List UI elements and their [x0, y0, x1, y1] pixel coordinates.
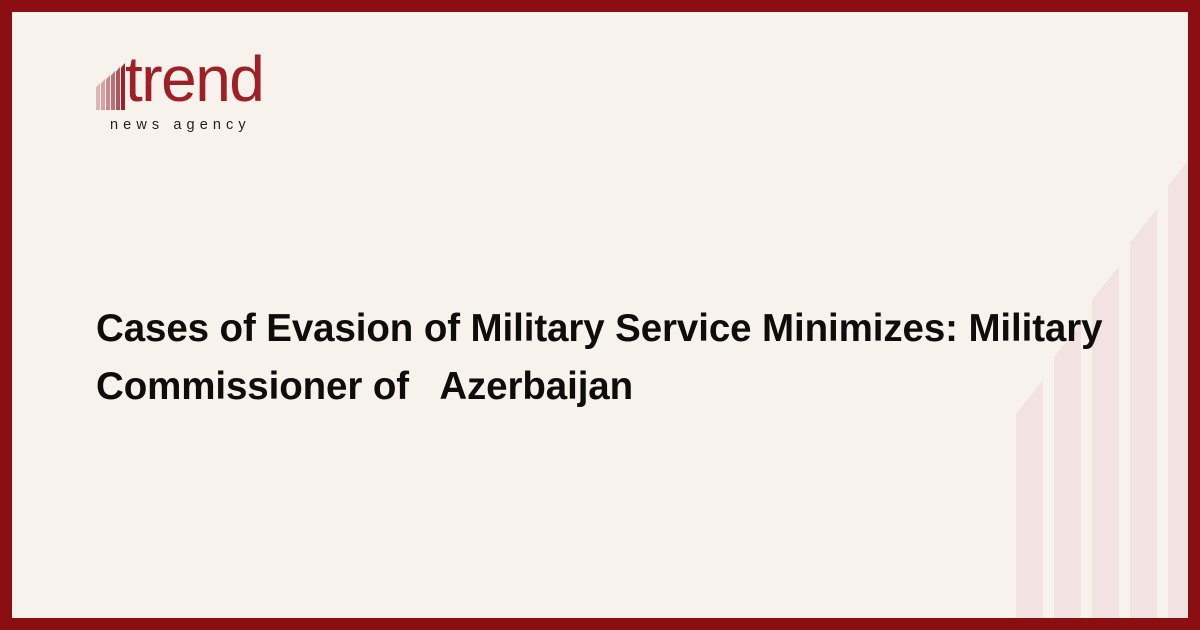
watermark-bar-5	[1168, 152, 1188, 618]
logo-wordmark: trend	[125, 48, 263, 110]
ascending-bars-icon	[96, 54, 126, 110]
watermark-bar-4	[1130, 209, 1157, 618]
headline: Cases of Evasion of Military Service Min…	[96, 300, 1111, 416]
share-card: trend news agency Cases of Evasion of Mi…	[0, 0, 1200, 630]
logo-mark-row: trend	[96, 48, 356, 110]
trend-news-agency-logo[interactable]: trend news agency	[96, 48, 356, 148]
logo-tagline: news agency	[110, 117, 356, 133]
